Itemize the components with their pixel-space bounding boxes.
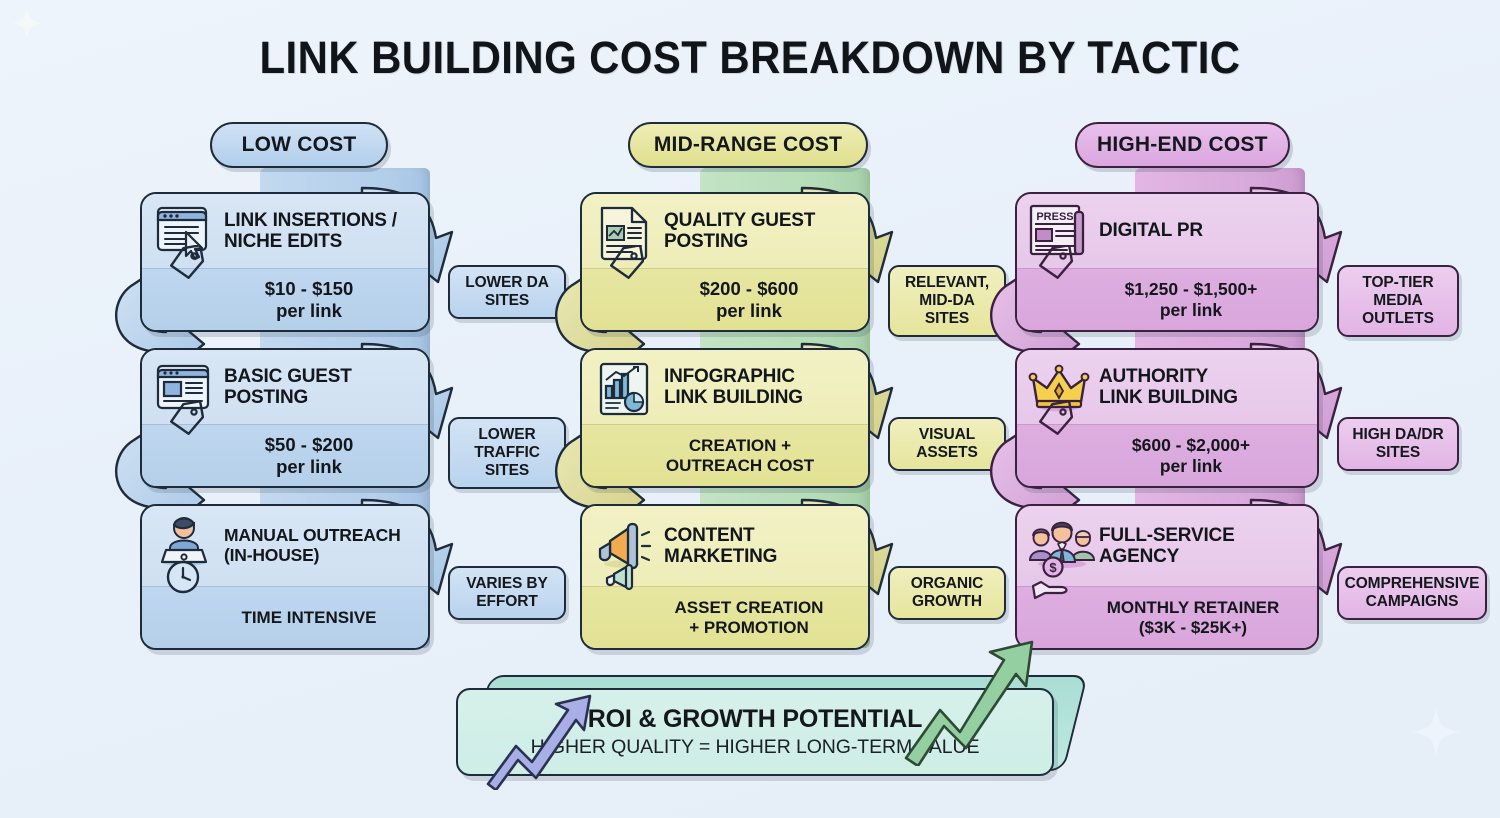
outcome-line: EFFORT: [466, 593, 548, 611]
tactic-price: CREATION +: [689, 436, 791, 455]
tactic-card[interactable]: DIGITAL PR $1,250 - $1,500+ per link PRE…: [1015, 192, 1319, 332]
svg-text:PRESS: PRESS: [1036, 211, 1073, 223]
tactic-name-line: POSTING: [664, 231, 815, 252]
column-header-high: HIGH-END COST: [1075, 122, 1290, 168]
svg-text:$: $: [1049, 560, 1057, 575]
tactic-card[interactable]: AUTHORITY LINK BUILDING $600 - $2,000+ p…: [1015, 348, 1319, 488]
tactic-price-sub: per link: [265, 456, 353, 477]
price-tag-icon: [1035, 245, 1075, 279]
megaphone-small-icon: [602, 561, 642, 593]
tactic-name-line: POSTING: [224, 387, 352, 408]
tactic-price: ASSET CREATION: [675, 598, 824, 617]
roi-title: ROI & GROWTH POTENTIAL: [588, 705, 922, 734]
infographic-chart-icon: [592, 358, 656, 420]
tactic-name-line: BASIC GUEST: [224, 366, 352, 387]
tactic-price-sub: + PROMOTION: [675, 618, 824, 638]
hand-money-icon: $: [1029, 554, 1077, 600]
tactic-price-sub: ($3K - $25K+): [1107, 618, 1280, 638]
outcome-line: VARIES BY: [466, 575, 548, 593]
tactic-name-line: LINK INSERTIONS /: [224, 210, 397, 231]
outcome-line: ASSETS: [916, 444, 977, 462]
price-tag-icon: [166, 245, 206, 279]
clock-icon: [164, 558, 202, 596]
tactic-price-sub: per link: [700, 300, 799, 321]
price-tag-icon: [1035, 401, 1075, 435]
outcome-line: OUTLETS: [1362, 310, 1434, 328]
outcome-line: SITES: [465, 292, 549, 310]
tactic-card[interactable]: CONTENT MARKETING ASSET CREATION + PROMO…: [580, 504, 870, 650]
tactic-name-line: NICHE EDITS: [224, 231, 397, 252]
tactic-price: TIME INTENSIVE: [241, 608, 376, 627]
outcome-line: SITES: [474, 462, 540, 480]
infographic-canvas: LINK BUILDING COST BREAKDOWN BY TACTIC: [0, 0, 1500, 818]
outcome-line: COMPREHENSIVE: [1345, 575, 1480, 593]
price-tag-icon: [166, 401, 206, 435]
outcome-line: CAMPAIGNS: [1345, 593, 1480, 611]
column-header-mid: MID-RANGE COST: [628, 122, 868, 168]
tactic-name-line: DIGITAL PR: [1099, 220, 1203, 241]
tactic-card[interactable]: BASIC GUEST POSTING $50 - $200 per link: [140, 348, 430, 488]
outcome-chip[interactable]: HIGH DA/DR SITES: [1337, 417, 1459, 471]
tactic-price: $200 - $600: [700, 278, 799, 299]
tactic-card[interactable]: QUALITY GUEST POSTING $200 - $600 per li…: [580, 192, 870, 332]
price-tag-icon: [606, 245, 646, 279]
tactic-price: $50 - $200: [265, 434, 353, 455]
tactic-name-line: AGENCY: [1099, 546, 1235, 567]
outcome-line: LOWER DA: [465, 274, 549, 292]
tactic-name-line: AUTHORITY: [1099, 366, 1238, 387]
outcome-line: VISUAL: [916, 426, 977, 444]
tactic-name-line: FULL-SERVICE: [1099, 525, 1235, 546]
outcome-line: HIGH DA/DR: [1352, 426, 1443, 444]
sparkle-icon: [1410, 706, 1462, 758]
tactic-name-line: MARKETING: [664, 546, 777, 567]
outcome-line: GROWTH: [911, 593, 984, 611]
outcome-line: TRAFFIC: [474, 444, 540, 462]
tactic-price-sub: per link: [265, 300, 353, 321]
tactic-price-sub: per link: [1132, 456, 1250, 476]
outcome-chip[interactable]: COMPREHENSIVE CAMPAIGNS: [1337, 566, 1487, 620]
growth-arrow-green-icon: [900, 636, 1040, 766]
outcome-line: LOWER: [474, 426, 540, 444]
tactic-name-line: QUALITY GUEST: [664, 210, 815, 231]
outcome-line: MEDIA: [1362, 292, 1434, 310]
outcome-line: TOP-TIER: [1362, 274, 1434, 292]
tactic-name-line: LINK BUILDING: [1099, 387, 1238, 408]
tactic-card[interactable]: MANUAL OUTREACH (IN-HOUSE) TIME INTENSIV…: [140, 504, 430, 650]
tactic-price: MONTHLY RETAINER: [1107, 598, 1280, 617]
tactic-name-line: INFOGRAPHIC: [664, 366, 803, 387]
growth-arrow-purple-icon: [480, 690, 600, 790]
tactic-name-line: LINK BUILDING: [664, 387, 803, 408]
tactic-price: $600 - $2,000+: [1132, 435, 1250, 455]
tactic-name-line: (IN-HOUSE): [224, 546, 401, 566]
tactic-card[interactable]: INFOGRAPHIC LINK BUILDING CREATION + OUT…: [580, 348, 870, 488]
outcome-chip[interactable]: TOP-TIER MEDIA OUTLETS: [1337, 265, 1459, 337]
tactic-card[interactable]: FULL-SERVICE AGENCY MONTHLY RETAINER ($3…: [1015, 504, 1319, 650]
outcome-line: ORGANIC: [911, 575, 984, 593]
sparkle-icon: [10, 6, 44, 40]
tactic-name-line: MANUAL OUTREACH: [224, 526, 401, 546]
tactic-price: $1,250 - $1,500+: [1125, 279, 1258, 299]
tactic-name-line: CONTENT: [664, 525, 777, 546]
tactic-card[interactable]: LINK INSERTIONS / NICHE EDITS $10 - $150…: [140, 192, 430, 332]
column-header-low: LOW COST: [210, 122, 388, 168]
outcome-line: SITES: [1352, 444, 1443, 462]
tactic-price: $10 - $150: [265, 278, 353, 299]
tactic-price-sub: per link: [1125, 300, 1258, 320]
tactic-price-sub: OUTREACH COST: [666, 456, 814, 476]
